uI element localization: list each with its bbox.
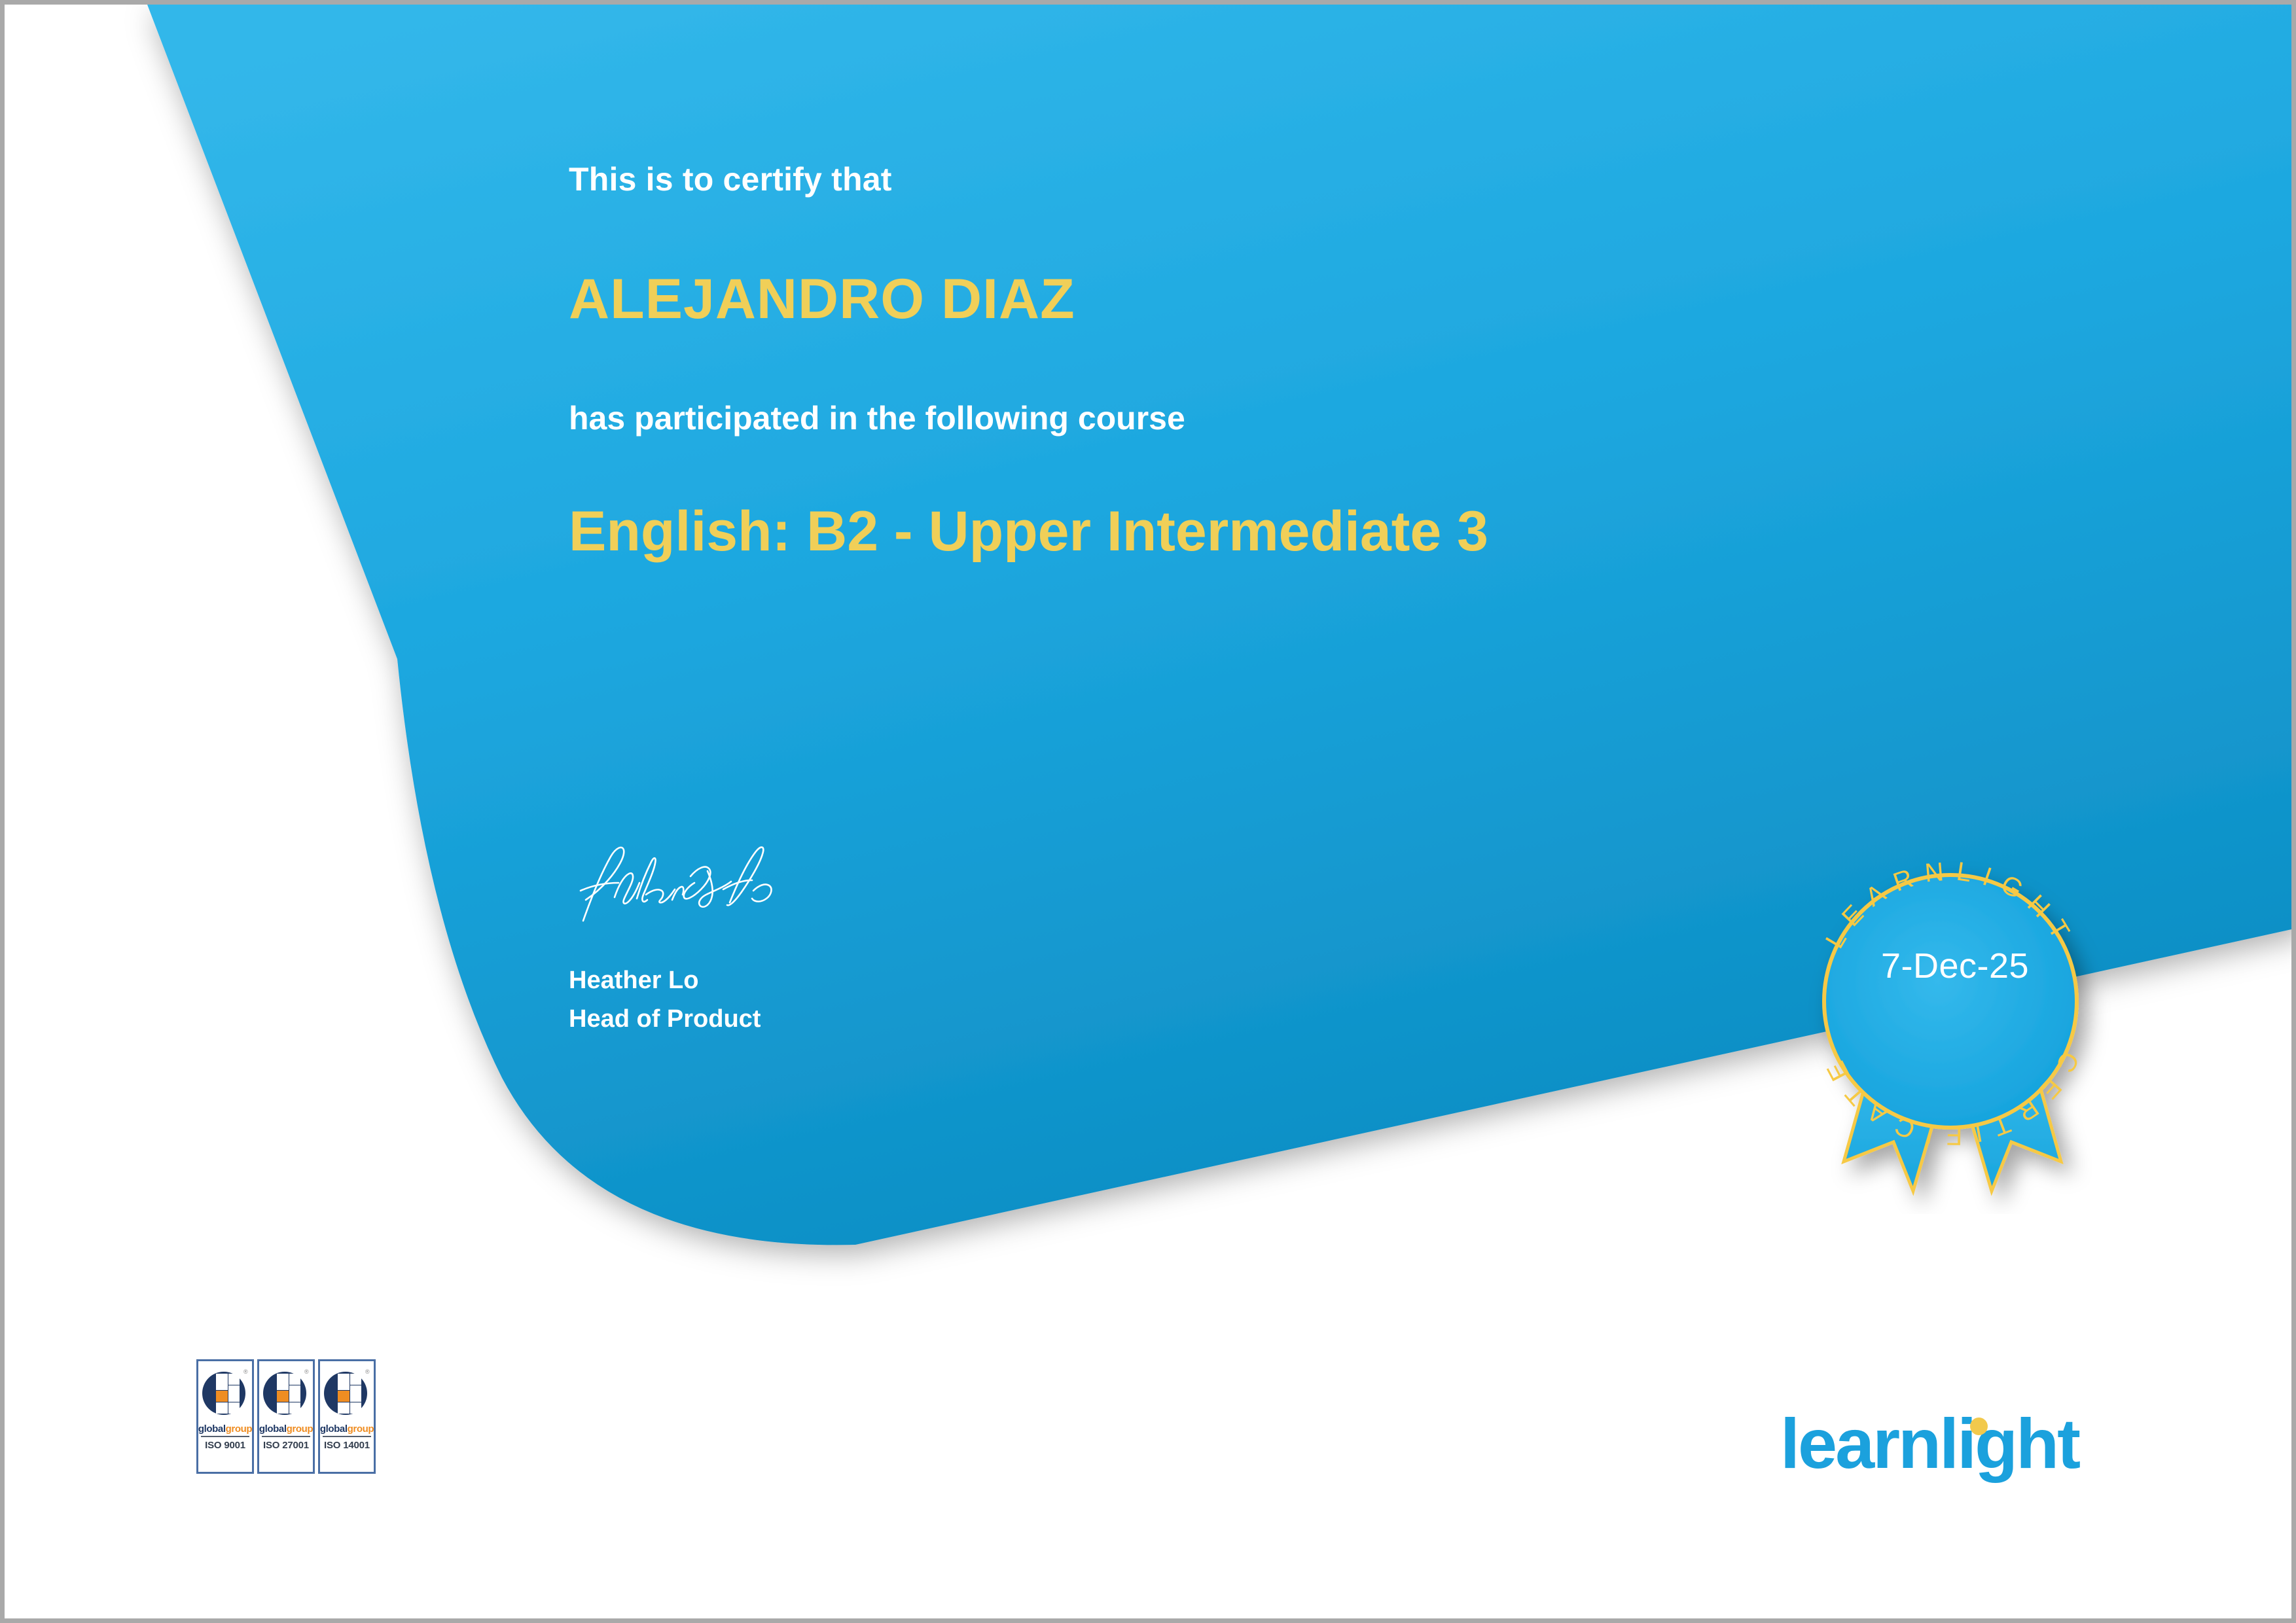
brand-second: group xyxy=(287,1423,314,1435)
signature-block: Heather Lo Head of Product xyxy=(569,842,1158,1039)
signature-icon xyxy=(569,842,791,927)
iso-badge: ® globalgroup ISO 14001 xyxy=(318,1359,376,1474)
svg-text:®: ® xyxy=(243,1368,248,1375)
globalgroup-logo-icon: ® xyxy=(322,1364,372,1422)
iso-badge: ® globalgroup ISO 9001 xyxy=(196,1359,254,1474)
iso-badge: ® globalgroup ISO 27001 xyxy=(257,1359,315,1474)
globalgroup-wordmark: globalgroup xyxy=(259,1422,313,1434)
iso-accreditation-badges: ® globalgroup ISO 9001 ® globalgroup ISO… xyxy=(196,1359,376,1474)
brand-first: global xyxy=(320,1423,348,1435)
recipient-name: ALEJANDRO DIAZ xyxy=(569,198,1812,329)
seal-date: 7-Dec-25 xyxy=(1811,946,2099,986)
learnlight-wordmark: learnlight xyxy=(1780,1408,2079,1479)
brand-first: global xyxy=(259,1423,287,1435)
logo-dot-icon xyxy=(1970,1418,1988,1435)
iso-standard: ISO 14001 xyxy=(324,1437,370,1451)
globalgroup-logo-icon: ® xyxy=(200,1364,250,1422)
svg-text:®: ® xyxy=(304,1368,309,1375)
signer-title: Head of Product xyxy=(569,1000,1158,1039)
learnlight-logo: learnlight xyxy=(1780,1408,2121,1493)
svg-text:®: ® xyxy=(365,1368,370,1375)
globalgroup-wordmark: globalgroup xyxy=(320,1422,374,1434)
brand-second: group xyxy=(226,1423,253,1435)
iso-standard: ISO 9001 xyxy=(205,1437,245,1451)
certificate-text-block: This is to certify that ALEJANDRO DIAZ h… xyxy=(569,162,1812,562)
iso-standard: ISO 27001 xyxy=(263,1437,309,1451)
globalgroup-wordmark: globalgroup xyxy=(198,1422,252,1434)
course-title: English: B2 - Upper Intermediate 3 xyxy=(569,437,1812,561)
brand-first: global xyxy=(198,1423,226,1435)
certificate-page: This is to certify that ALEJANDRO DIAZ h… xyxy=(0,0,2296,1623)
certificate-seal: LEARNLIGHT CERTIFICATE xyxy=(1784,834,2137,1214)
signer-name: Heather Lo xyxy=(569,961,1158,1000)
participation-line: has participated in the following course xyxy=(569,329,1812,437)
globalgroup-logo-icon: ® xyxy=(261,1364,311,1422)
intro-line: This is to certify that xyxy=(569,162,1812,198)
brand-second: group xyxy=(348,1423,374,1435)
